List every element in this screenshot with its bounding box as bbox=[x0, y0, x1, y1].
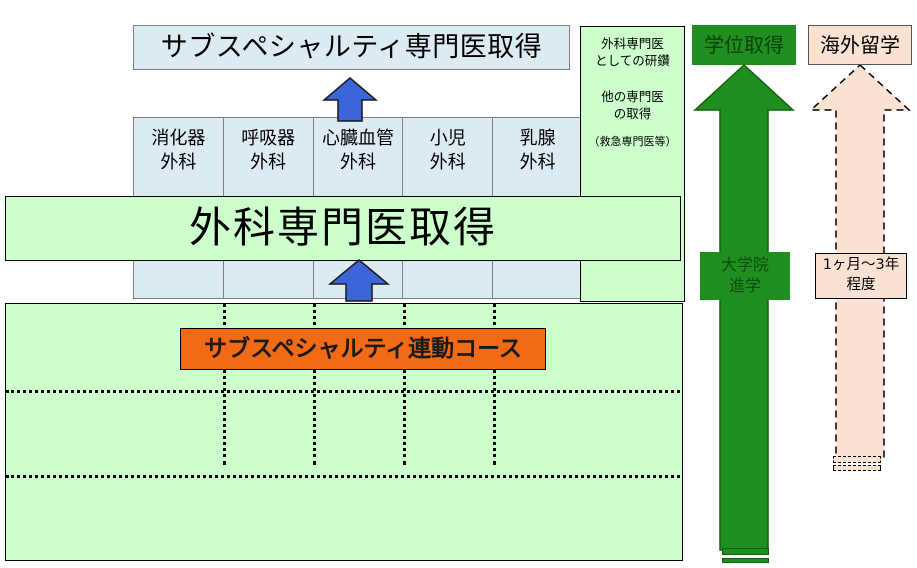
year-divider-2-to-1 bbox=[6, 475, 680, 478]
blue-up-arrow-to-subspecialty bbox=[322, 76, 378, 122]
side-note-other-certifications: 他の専門医 の取得 bbox=[581, 89, 684, 123]
graduate-school-enrollment-label: 大学院 進学 bbox=[700, 252, 790, 300]
blue-up-arrow-to-surgeon-certification bbox=[327, 258, 391, 302]
subspecialty-certification-title: サブスペシャルティ専門医取得 bbox=[133, 25, 570, 70]
career-pathway-diagram: サブスペシャルティ専門医取得 消化器 外科 呼吸器 外科 心臓血管 外科 小児 … bbox=[0, 0, 917, 568]
degree-acquisition-arrow bbox=[692, 62, 796, 552]
side-note-other-certifications-sub: （救急専門医等） bbox=[581, 133, 684, 149]
overseas-study-duration-label: 1ヶ月～3年 程度 bbox=[815, 253, 907, 299]
surgeon-certification-banner: 外科専門医取得 bbox=[5, 196, 681, 261]
side-note-training-as-surgeon: 外科専門医 としての研鑽 bbox=[581, 36, 684, 70]
year-divider-3-to-2 bbox=[6, 390, 680, 393]
subspecialty-linked-course-box: サブスペシャルティ連動コース bbox=[180, 328, 546, 370]
overseas-arrow-foot-2 bbox=[833, 465, 881, 471]
degree-acquisition-title: 学位取得 bbox=[692, 25, 796, 65]
degree-arrow-foot-2 bbox=[722, 558, 769, 563]
degree-arrow-foot-1 bbox=[722, 548, 769, 555]
overseas-arrow-foot-1 bbox=[833, 456, 881, 463]
overseas-study-title: 海外留学 bbox=[808, 25, 912, 65]
